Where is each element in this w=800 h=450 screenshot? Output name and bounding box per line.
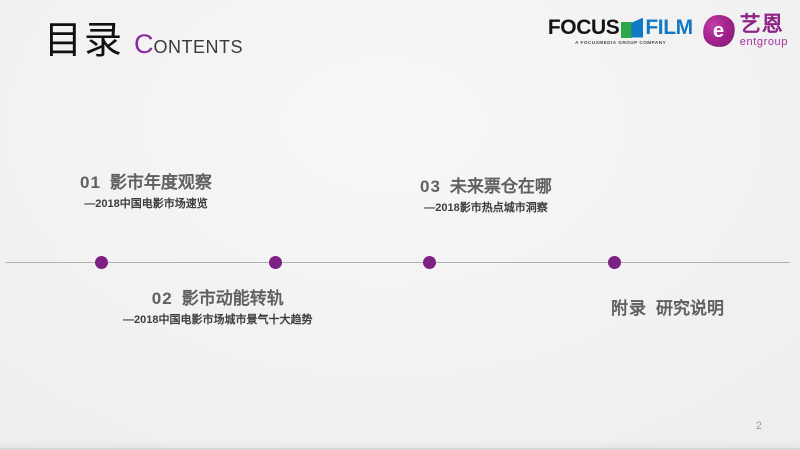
contents-entry-01-head: 01影市年度观察 bbox=[80, 172, 212, 193]
timeline-dot-02 bbox=[269, 256, 282, 269]
focus-film-wordmark: FOCUS FILM bbox=[548, 17, 693, 38]
contents-entry-appendix-head: 附录研究说明 bbox=[611, 298, 724, 319]
focus-film-logo: FOCUS FILM A FOCUSMEDIA GROUP COMPANY bbox=[548, 17, 693, 45]
contents-entry-02-head: 02影市动能转轨 bbox=[123, 288, 312, 309]
page-title-cn: 目录 bbox=[44, 22, 124, 60]
page-title-en: C ONTENTS bbox=[134, 31, 243, 58]
focus-tagline: A FOCUSMEDIA GROUP COMPANY bbox=[575, 40, 666, 45]
contents-entry-appendix[interactable]: 附录研究说明 bbox=[611, 298, 724, 319]
contents-entry-01-subtitle: —2018中国电影市场速览 bbox=[80, 197, 212, 211]
timeline-axis bbox=[6, 262, 790, 263]
page-title-en-rest: ONTENTS bbox=[154, 38, 244, 56]
entgroup-wordmark: 艺恩 entgroup bbox=[740, 14, 788, 48]
focus-film-mark-icon bbox=[621, 18, 643, 38]
contents-entry-02-title: 影市动能转轨 bbox=[182, 289, 284, 308]
contents-entry-03-subtitle: —2018影市热点城市洞察 bbox=[420, 201, 552, 215]
contents-entry-appendix-title: 研究说明 bbox=[656, 299, 724, 318]
entgroup-badge-icon: e bbox=[701, 13, 737, 49]
contents-entry-03[interactable]: 03未来票仓在哪 —2018影市热点城市洞察 bbox=[420, 176, 552, 216]
contents-entry-01-number: 01 bbox=[80, 173, 101, 192]
entgroup-badge-letter: e bbox=[713, 21, 724, 41]
logo-group: FOCUS FILM A FOCUSMEDIA GROUP COMPANY e … bbox=[548, 14, 788, 48]
contents-entry-02[interactable]: 02影市动能转轨 —2018中国电影市场城市景气十大趋势 bbox=[123, 288, 312, 328]
contents-entry-appendix-number: 附录 bbox=[611, 299, 647, 318]
timeline-dot-appendix bbox=[608, 256, 621, 269]
page-title: 目录 C ONTENTS bbox=[44, 22, 243, 60]
contents-entry-01[interactable]: 01影市年度观察 —2018中国电影市场速览 bbox=[80, 172, 212, 212]
entgroup-logo: e 艺恩 entgroup bbox=[703, 14, 788, 48]
entgroup-name-cn: 艺恩 bbox=[740, 14, 788, 35]
contents-entry-03-number: 03 bbox=[420, 177, 441, 196]
page-title-en-initial: C bbox=[134, 31, 154, 58]
contents-entry-03-title: 未来票仓在哪 bbox=[450, 177, 552, 196]
contents-entry-02-number: 02 bbox=[152, 289, 173, 308]
slide-contents: 目录 C ONTENTS FOCUS FILM A FOCUSMEDIA GRO… bbox=[0, 0, 800, 450]
film-word: FILM bbox=[645, 17, 692, 38]
contents-entry-01-title: 影市年度观察 bbox=[110, 173, 212, 192]
timeline-dot-01 bbox=[95, 256, 108, 269]
page-number: 2 bbox=[756, 420, 762, 432]
focus-word: FOCUS bbox=[548, 17, 620, 38]
timeline-dot-03 bbox=[423, 256, 436, 269]
contents-entry-03-head: 03未来票仓在哪 bbox=[420, 176, 552, 197]
entgroup-name-en: entgroup bbox=[740, 37, 788, 48]
contents-entry-02-subtitle: —2018中国电影市场城市景气十大趋势 bbox=[123, 313, 312, 327]
